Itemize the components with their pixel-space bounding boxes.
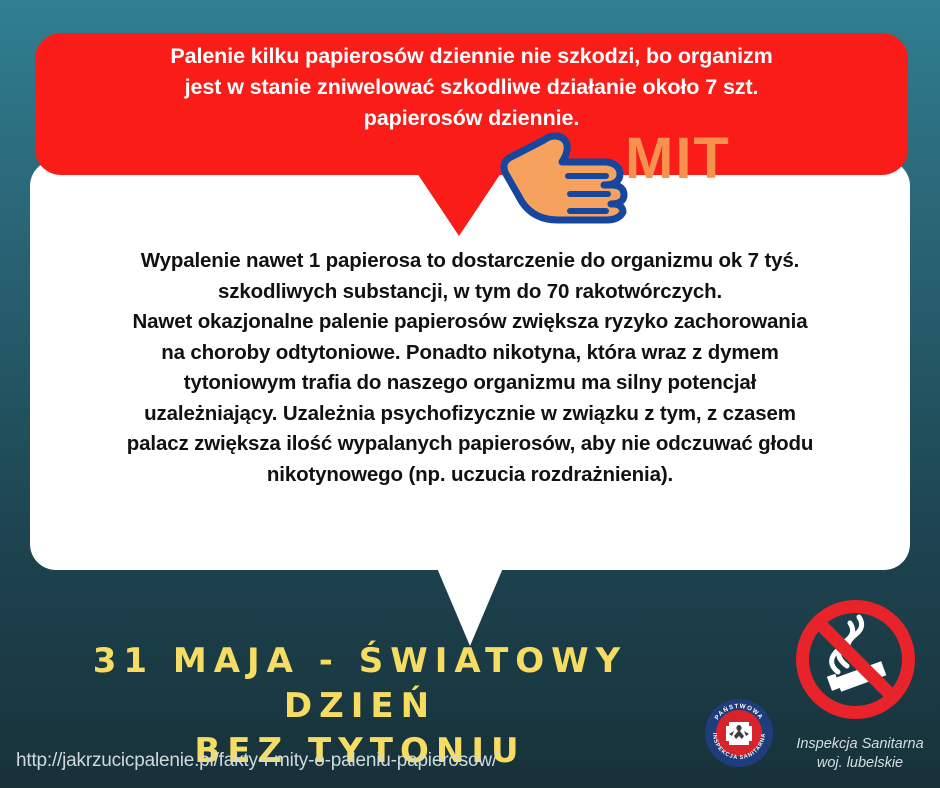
- myth-line: jest w stanie zniwelować szkodliwe dział…: [60, 72, 883, 103]
- headline-line: 31 MAJA - ŚWIATOWY DZIEŃ: [10, 639, 710, 729]
- fact-line: nikotynowego (np. uczucia rozdrażnienia)…: [52, 460, 888, 491]
- fact-line: tytoniowym trafia do naszego organizmu m…: [52, 368, 888, 399]
- pointing-hand-icon: [496, 132, 628, 224]
- fact-text: Wypalenie nawet 1 papierosa to dostarcze…: [52, 246, 888, 490]
- fact-line: Nawet okazjonalne palenie papierosów zwi…: [52, 307, 888, 338]
- fact-line: uzależniający. Uzależnia psychofizycznie…: [52, 399, 888, 430]
- no-smoking-icon: [793, 597, 918, 722]
- myth-line: Palenie kilku papierosów dziennie nie sz…: [60, 41, 883, 72]
- myth-line: papierosów dziennie.: [60, 103, 883, 134]
- org-line: Inspekcja Sanitarna: [780, 735, 940, 754]
- myth-bubble-tail: [417, 173, 501, 236]
- fact-card-tail: [437, 568, 503, 646]
- org-line: woj. lubelskie: [780, 754, 940, 773]
- sanepid-logo: PAŃSTWOWA INSPEKCJA SANITARNA: [704, 698, 774, 768]
- fact-line: Wypalenie nawet 1 papierosa to dostarcze…: [52, 246, 888, 277]
- myth-badge-label: MIT: [625, 130, 731, 188]
- poster-canvas: Palenie kilku papierosów dziennie nie sz…: [0, 0, 940, 788]
- fact-line: palacz zwiększa ilość wypalanych papiero…: [52, 429, 888, 460]
- organization-caption: Inspekcja Sanitarna woj. lubelskie: [780, 735, 940, 773]
- myth-text: Palenie kilku papierosów dziennie nie sz…: [60, 41, 883, 134]
- source-url-link[interactable]: http://jakrzucicpalenie.pl/fakty-i-mity-…: [16, 750, 497, 772]
- fact-line: szkodliwych substancji, w tym do 70 rako…: [52, 277, 888, 308]
- fact-line: na choroby odtytoniowe. Ponadto nikotyna…: [52, 338, 888, 369]
